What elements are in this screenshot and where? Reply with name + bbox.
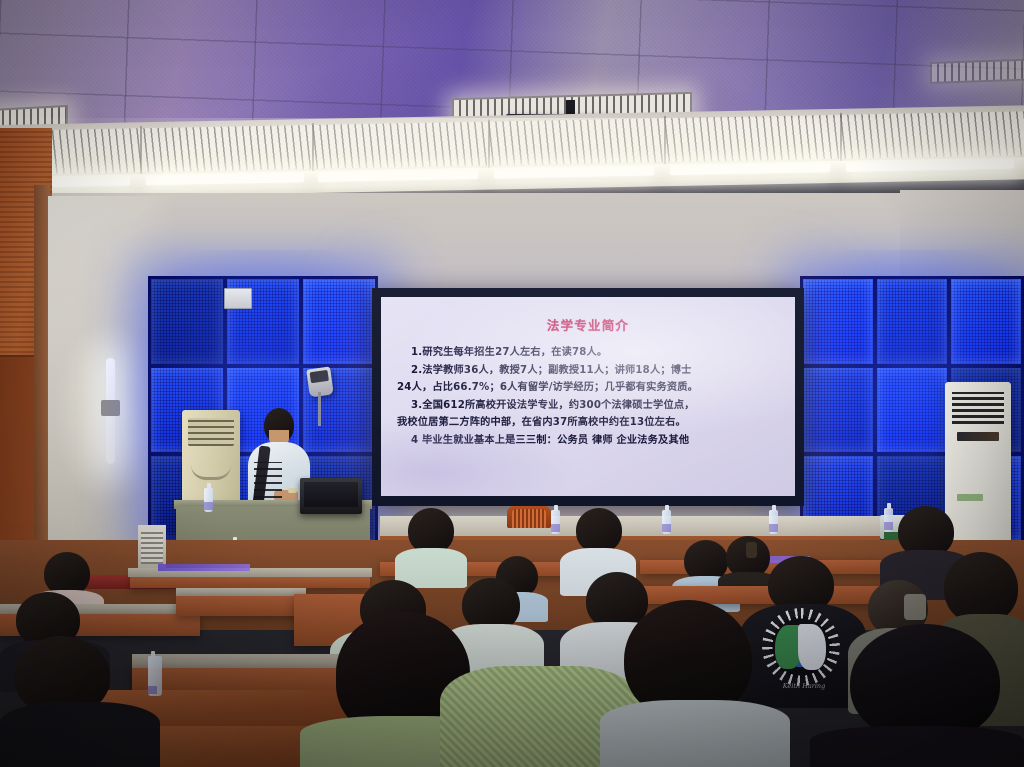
slide-line-4: 3.全国612所高校开设法学专业，约300个法律硕士学位点，: [397, 398, 779, 415]
lecture-hall-photo: 法学专业简介 1.研究生每年招生27人左右，在读78人。 2.法学教师36人，教…: [0, 0, 1024, 767]
recessed-grille-light-right: [930, 58, 1024, 84]
water-bottle[interactable]: [769, 510, 778, 534]
hair-accessory: [904, 594, 926, 620]
projection-screen-frame: 法学专业简介 1.研究生每年招生27人左右，在读78人。 2.法学教师36人，教…: [372, 288, 804, 506]
ac-display-panel: [957, 432, 999, 441]
audience-member-right-edge: [810, 624, 1024, 767]
chair-slats: [512, 509, 546, 528]
wooden-chair-back: [507, 506, 551, 528]
slide-title: 法学专业简介: [397, 315, 779, 334]
audience-member-front-center: [600, 600, 790, 767]
projection-screen: 法学专业简介 1.研究生每年招生27人左右，在读78人。 2.法学教师36人，教…: [381, 297, 795, 496]
ac-vent-grille-right: [952, 392, 1004, 424]
slide-line-2: 2.法学教师36人，教授7人；副教授11人；讲师18人；博士: [397, 363, 779, 380]
slide-line-5: 我校位居第二方阵的中部，在省内37所高校中约在13位左右。: [397, 415, 779, 432]
audience-member-front-left: [0, 636, 160, 767]
water-bottle[interactable]: [662, 510, 671, 534]
water-bottle[interactable]: [204, 488, 213, 512]
ac-brand-badge: [957, 494, 983, 501]
floor-vent-slats: [141, 530, 163, 564]
wall-notice-sign: [224, 288, 252, 309]
presenter-watch: [288, 488, 297, 493]
slide-body: 1.研究生每年招生27人左右，在读78人。 2.法学教师36人，教授7人；副教授…: [397, 345, 779, 449]
audience-member-back-2: [395, 508, 467, 586]
speaker-mount-stem: [318, 392, 321, 426]
slide-line-3: 24人，占比66.7%；6人有留学/访学经历；几乎都有实务资质。: [397, 380, 779, 397]
slide-line-1: 1.研究生每年招生27人左右，在读78人。: [397, 345, 779, 362]
tiered-wooden-desk-row: [176, 596, 306, 616]
ac-trim-left: [191, 465, 231, 480]
slide-line-6: 4 毕业生就业基本上是三三制：公务员 律师 企业法务及其他: [397, 433, 779, 450]
presentation-slide: 法学专业简介 1.研究生每年招生27人左右，在读78人。 2.法学教师36人，教…: [381, 297, 795, 496]
desktop-monitor[interactable]: [300, 478, 362, 514]
sconce-bracket: [101, 400, 120, 416]
water-bottle[interactable]: [551, 510, 560, 534]
ac-vent-grille-left: [188, 418, 234, 446]
